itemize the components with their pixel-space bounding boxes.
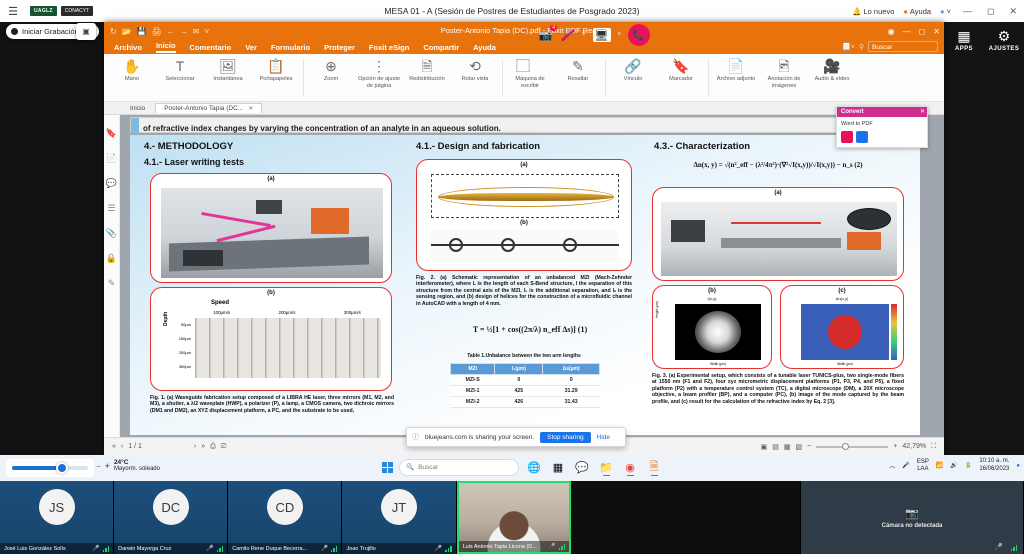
- participant-name: Darwin Mayorga Cruz: [118, 546, 206, 552]
- zoom-slider[interactable]: [816, 446, 888, 448]
- volume-slider-knob[interactable]: [56, 462, 68, 474]
- language-indicator[interactable]: ESP LAA: [917, 459, 929, 472]
- participant-tile-active-speaker[interactable]: Luis Antonio Tapia Licona (D... 🎤: [457, 481, 572, 554]
- notification-icon[interactable]: ●: [1016, 463, 1020, 469]
- attachment-icon: 📄: [712, 57, 760, 76]
- ribbon-snapshot[interactable]: 🖼 Instantánea: [204, 57, 252, 83]
- ribbon-label-audio-video: Audio & vídeo: [808, 76, 856, 83]
- figure-3a-image: [661, 202, 897, 276]
- participant-status-icons: 🎤: [206, 545, 223, 552]
- facing-page-icon[interactable]: ⎚: [221, 443, 227, 451]
- mic-muted-icon: 🎤: [206, 545, 213, 552]
- depth-row-3: 250µm: [171, 346, 191, 360]
- weather-plus-icon[interactable]: +: [105, 461, 110, 471]
- ribbon-label-select: Seleccionar: [156, 76, 204, 83]
- equation-2: Δn(x, y) = √(n²_eff − (λ²/4π²)·(∇²√I(x,y…: [650, 161, 906, 169]
- prev-page-icon[interactable]: ‹: [121, 443, 123, 450]
- ribbon-label-clipboard: Portapapeles: [252, 76, 300, 83]
- figure-3c-box: (c) Δn(x,y) Width (µm): [780, 285, 904, 369]
- table-header-row: MZI l₂(µm) Δs(µm): [451, 364, 600, 375]
- figure-1b-label: (b): [151, 290, 391, 296]
- panel-b-ylabel: Height (µm): [655, 301, 659, 318]
- signal-strength-icon: [559, 544, 566, 550]
- foxit-side-panel-strip: 🔖 📄 💬 ☰ 📎 🔒 ✎: [104, 115, 120, 455]
- figure-3a-label: (a): [653, 190, 903, 196]
- page-indicator[interactable]: 1 / 1: [128, 443, 142, 450]
- no-camera-label: Cámara no detectada: [882, 523, 943, 529]
- bluejeans-topbar: ☰ UAGLZ CONACYT MESA 01 - A (Sesión de P…: [0, 0, 1024, 22]
- figure-2b-label: (b): [417, 220, 631, 226]
- screen-root: ☰ UAGLZ CONACYT MESA 01 - A (Sesión de P…: [0, 0, 1024, 554]
- single-view-icon[interactable]: ▣: [761, 443, 768, 451]
- microphone-icon[interactable]: 🎤: [902, 462, 909, 469]
- ribbon-image-annotation[interactable]: 🖻 Anotación de imágenes: [760, 57, 808, 90]
- security-icon[interactable]: 🔒: [104, 246, 119, 271]
- participant-tile-no-camera[interactable]: 📷 Cámara no detectada 🎤: [801, 481, 1024, 554]
- camera-off-icon: 📷: [905, 507, 919, 520]
- participant-tile[interactable]: DC Darwin Mayorga Cruz 🎤: [114, 481, 228, 554]
- select-icon: T: [156, 57, 204, 76]
- figure-1b-box: (b) Speed 100µm/s 200µm/s 300µm/s Depth …: [150, 287, 392, 391]
- page-navigation: « ‹ 1 / 1 › » ⎙ ⎚: [104, 443, 226, 451]
- left-subheading: 4.1.- Laser writing tests: [144, 157, 394, 167]
- avatar: JT: [381, 489, 417, 525]
- participant-info-bar: Darwin Mayorga Cruz 🎤: [114, 543, 227, 554]
- figure-1a-image: [161, 188, 383, 278]
- mic-muted-icon: 🎤: [435, 545, 442, 552]
- attachment-icon[interactable]: 📎: [104, 221, 119, 246]
- figure-3c-label: (c): [781, 288, 903, 294]
- help-label: Ayuda: [910, 7, 931, 16]
- convert-popup-title: Convert: [837, 107, 927, 117]
- help-icon: ●: [903, 7, 908, 16]
- edge-icon[interactable]: 🌐: [525, 458, 543, 476]
- participant-info-bar: Camilo Rene Duque Becerra... 🎤: [228, 543, 341, 554]
- whats-new-label: Lo nuevo: [864, 7, 895, 16]
- participant-tile[interactable]: JS José Luis González Solís 🎤: [0, 481, 114, 554]
- battery-icon[interactable]: 🔋: [965, 462, 972, 469]
- zoom-slider-knob[interactable]: [842, 443, 849, 450]
- middle-heading: 4.1.- Design and fabrication: [416, 141, 636, 152]
- highlight-icon: ✎: [554, 57, 602, 76]
- search-input-placeholder: Buscar: [418, 464, 438, 471]
- ribbon-label-rotate: Rotar vista: [451, 76, 499, 83]
- clock-date: 16/06/2023: [979, 466, 1009, 474]
- fit-page-icon: ⋮: [355, 57, 403, 76]
- foxit-close-button[interactable]: ✕: [933, 27, 940, 36]
- rail-label-settings: AJUSTES: [984, 46, 1024, 52]
- participant-name: José Luis González Solís: [4, 546, 92, 552]
- figure-2a-diagram: [431, 174, 619, 218]
- apps-icon: ▦: [944, 28, 984, 44]
- clock[interactable]: 10:10 a. m. 16/06/2023: [979, 458, 1009, 473]
- zoom-in-button[interactable]: +: [893, 443, 897, 450]
- menu-ayuda[interactable]: Ayuda: [473, 43, 496, 52]
- depth-row-4: 350µm: [171, 360, 191, 374]
- ribbon-label-zoom: Zoom: [307, 76, 355, 83]
- hand-icon: ✋: [108, 57, 156, 76]
- participant-status-icons: 🎤: [320, 545, 337, 552]
- volume-osd[interactable]: [6, 459, 94, 477]
- ribbon-clipboard[interactable]: 📋 Portapapeles: [252, 57, 300, 83]
- foxit-titlebar: ↻ 📂 💾 🖨 ← → ✉ ˅ Poster-Antonio Tapia (DC…: [104, 22, 944, 40]
- help-button[interactable]: ● Ayuda: [903, 7, 931, 16]
- camera-button[interactable]: 📷 4: [538, 28, 553, 43]
- bookmark-icon[interactable]: 🔖: [104, 121, 119, 146]
- file-explorer-icon[interactable]: 📁: [597, 458, 615, 476]
- speed-col-3: 300µm/s: [344, 310, 361, 315]
- figure-3b-box: (b) I(x,y) Height (µm) Width (µm): [652, 285, 772, 369]
- teams-chat-icon[interactable]: 💬: [573, 458, 591, 476]
- ribbon-label-fit-page: Opción de ajuste de página: [355, 76, 403, 90]
- convert-popup[interactable]: Convert ✕ Word to PDF: [836, 106, 928, 148]
- participant-tile[interactable]: CD Camilo Rene Duque Becerra... 🎤: [228, 481, 342, 554]
- last-page-icon[interactable]: »: [201, 443, 205, 450]
- avatar: CD: [267, 489, 303, 525]
- tab-label: Poster-Antonio Tapia (DC...: [164, 105, 243, 112]
- share-info-icon: ⓘ: [412, 432, 419, 442]
- ribbon-select[interactable]: T Seleccionar: [156, 57, 204, 83]
- chrome-icon[interactable]: ◉: [621, 458, 639, 476]
- volume-slider[interactable]: [12, 466, 88, 470]
- depth-row-1: 50µm: [171, 318, 191, 332]
- whats-new-button[interactable]: 🔔 Lo nuevo: [852, 7, 894, 16]
- menu-comentario[interactable]: Comentario: [190, 43, 232, 52]
- tab-inicio[interactable]: Inicio: [122, 104, 153, 113]
- facing-continuous-icon[interactable]: ▧: [796, 443, 803, 451]
- figure-2-box: (a) (b): [416, 159, 632, 271]
- participant-tile[interactable]: JT Joao Trujillo 🎤: [342, 481, 456, 554]
- panel-b-title: I(x,y): [653, 296, 771, 301]
- participant-name: Joao Trujillo: [346, 546, 434, 552]
- account-icon: ●: [940, 7, 945, 16]
- fullscreen-icon[interactable]: ⛶: [931, 443, 936, 451]
- ribbon-separator-3: [605, 59, 606, 97]
- share-notification-text: bluejeans.com is sharing your screen.: [425, 434, 534, 441]
- snapshot-icon: 🖼: [204, 57, 252, 76]
- single-page-icon[interactable]: ⎙: [210, 443, 216, 451]
- search-icon: 🔍: [406, 463, 414, 471]
- windows-taskbar: − + 24°C Mayorm. soleado 🔍 Buscar 🌐 ▦ 💬 …: [0, 455, 1024, 481]
- foxit-document-tabs: Inicio Poster-Antonio Tapia (DC... ✕: [104, 102, 944, 115]
- th-ds: Δs(µm): [543, 364, 600, 375]
- facing-view-icon[interactable]: ▦: [784, 443, 791, 451]
- continuous-view-icon[interactable]: ▤: [772, 443, 779, 451]
- stop-sharing-button[interactable]: Stop sharing: [540, 432, 591, 443]
- task-view-icon[interactable]: ▦: [549, 458, 567, 476]
- signal-strength-icon: [1011, 545, 1018, 551]
- mic-icon: 🎤: [548, 543, 555, 550]
- ribbon-attachment[interactable]: 📄 Archivo adjunto: [712, 57, 760, 83]
- depth-label: Depth: [163, 312, 169, 326]
- ribbon-hand[interactable]: ✋ Mano: [108, 57, 156, 83]
- record-dot-icon: [11, 28, 18, 35]
- menu-ver[interactable]: Ver: [245, 43, 257, 52]
- ribbon-label-image-annotation: Anotación de imágenes: [760, 76, 808, 90]
- foxit-search[interactable]: 📃˅ ⚲ Buscar: [842, 41, 938, 52]
- poster-banner-text: of refractive index changes by varying t…: [131, 124, 501, 133]
- signal-strength-icon: [217, 546, 224, 552]
- rail-label-apps: APPS: [944, 46, 984, 52]
- table-row: MZI-2 426 31.43: [451, 397, 600, 408]
- zoom-icon: ⊕: [307, 57, 355, 76]
- ribbon-typewriter[interactable]: ⃞ Máquina de escribir: [506, 57, 554, 90]
- cell-ds: 31.43: [543, 397, 600, 408]
- figure-3a-box: (a): [652, 187, 904, 281]
- account-button[interactable]: ● ˅: [940, 7, 951, 16]
- speed-title: Speed: [211, 300, 229, 306]
- comment-icon[interactable]: 💬: [104, 171, 119, 196]
- mic-muted-icon: 🎤: [320, 545, 327, 552]
- ribbon-label-typewriter: Máquina de escribir: [506, 76, 554, 90]
- cell-mzi: MZI-1: [451, 386, 495, 397]
- tab-poster-document[interactable]: Poster-Antonio Tapia (DC... ✕: [155, 103, 262, 113]
- ribbon-rotate-view[interactable]: ⟲ Rotar vista: [451, 57, 499, 83]
- cell-l2: 425: [495, 386, 543, 397]
- refractive-index-map: [801, 304, 889, 360]
- foxit-restore-button[interactable]: ◻: [919, 27, 926, 36]
- bluejeans-topbar-right: 🔔 Lo nuevo ● Ayuda ● ˅ — ◻ ✕: [852, 0, 1020, 22]
- poster-top-banner: of refractive index changes by varying t…: [130, 117, 920, 133]
- table-row: MZI-S 0 0: [451, 375, 600, 386]
- share-screen-button[interactable]: 🖥: [593, 28, 611, 42]
- signal-strength-icon: [103, 546, 110, 552]
- panel-b-xlabel: Width (µm): [675, 362, 761, 366]
- cell-l2: 426: [495, 397, 543, 408]
- image-annotation-icon: 🖻: [760, 57, 808, 76]
- search-icon: ⚲: [859, 43, 864, 51]
- clock-time: 10:10 a. m.: [979, 458, 1009, 466]
- mic-mute-strike-icon: [561, 29, 575, 40]
- participant-info-bar: José Luis González Solís 🎤: [0, 543, 113, 554]
- first-page-icon[interactable]: «: [112, 443, 116, 450]
- weather-widget[interactable]: − + 24°C Mayorm. soleado: [96, 459, 160, 473]
- foxit-ribbon: ✋ Mano T Seleccionar 🖼 Instantánea 📋 Por…: [104, 54, 944, 102]
- convert-popup-icons: [837, 131, 927, 147]
- next-page-icon[interactable]: ›: [194, 443, 196, 450]
- left-heading: 4.- METHODOLOGY: [144, 141, 394, 152]
- participant-name: Luis Antonio Tapia Licona (D...: [463, 544, 549, 550]
- rail-item-apps[interactable]: ▦ APPS: [944, 28, 984, 52]
- audio-video-icon: 🎥: [808, 57, 856, 76]
- convert-pdf-icon[interactable]: [856, 131, 868, 143]
- foxit-window: ↻ 📂 💾 🖨 ← → ✉ ˅ Poster-Antonio Tapia (DC…: [104, 22, 944, 455]
- ribbon-audio-video[interactable]: 🎥 Audio & vídeo: [808, 57, 856, 83]
- menu-formulario[interactable]: Formulario: [271, 43, 310, 52]
- ribbon-label-reflow: Redistribución: [403, 76, 451, 83]
- depth-row-2: 150µm: [171, 332, 191, 346]
- menu-inicio[interactable]: Inicio: [156, 41, 176, 53]
- participant-status-icons: 🎤: [92, 545, 109, 552]
- start-recording-label: Iniciar Grabación: [22, 27, 79, 36]
- avatar: JS: [39, 489, 75, 525]
- zoom-controls: ▣ ▤ ▦ ▧ − + 42,79% ⛶: [761, 443, 936, 451]
- menu-compartir[interactable]: Compartir: [423, 43, 459, 52]
- figure-1-caption: Fig. 1. (a) Waveguide fabrication setup …: [150, 395, 394, 414]
- th-l2: l₂(µm): [495, 364, 543, 375]
- taskbar-search[interactable]: 🔍 Buscar: [399, 459, 519, 476]
- mic-muted-button[interactable]: 🎤: [560, 28, 575, 43]
- ribbon-label-highlight: Resaltar: [554, 76, 602, 83]
- equation-1: T = ½[1 + cos((2π/λ) n_eff Δs)] (1): [430, 325, 630, 334]
- cell-mzi: MZI-S: [451, 375, 495, 386]
- ribbon-label-hand: Mano: [108, 76, 156, 83]
- bookmark-icon: 🔖: [657, 57, 705, 76]
- cell-l2: 0: [495, 375, 543, 386]
- ribbon-label-snapshot: Instantánea: [204, 76, 252, 83]
- participant-name: Camilo Rene Duque Becerra...: [232, 546, 320, 552]
- ribbon-label-bookmark: Marcador: [657, 76, 705, 83]
- settings-icon: ⚙: [984, 28, 1024, 44]
- link-icon: 🔗: [609, 57, 657, 76]
- cell-mzi: MZI-2: [451, 397, 495, 408]
- pdf-page-view[interactable]: of refractive index changes by varying t…: [120, 115, 944, 437]
- ribbon-separator-2: [502, 59, 503, 97]
- ribbon-zoom[interactable]: ⊕ Zoom: [307, 57, 355, 83]
- volume-fill: [12, 466, 58, 470]
- foxit-menubar: Archivo Inicio Comentario Ver Formulario…: [104, 40, 944, 54]
- language-line-2: LAA: [917, 466, 929, 473]
- ribbon-fit-page[interactable]: ⋮ Opción de ajuste de página: [355, 57, 403, 90]
- typewriter-icon: ⃞: [506, 57, 554, 76]
- cell-ds: 31.29: [543, 386, 600, 397]
- banner-accent: [131, 118, 139, 134]
- close-icon[interactable]: ✕: [248, 105, 253, 112]
- system-tray: ︿ 🎤 ESP LAA 📶 🔊 🔋 10:10 a. m. 16/06/2023…: [889, 458, 1020, 473]
- figure-1a-box: (a): [150, 173, 392, 283]
- th-mzi: MZI: [451, 364, 495, 375]
- cell-ds: 0: [543, 375, 600, 386]
- participant-status-icons: 🎤: [435, 545, 452, 552]
- table-1: MZI l₂(µm) Δs(µm) MZI-S 0 0 MZI-1: [450, 363, 600, 408]
- screen-share-notification: ⓘ bluejeans.com is sharing your screen. …: [406, 427, 626, 447]
- foxit-account-icon[interactable]: ◉: [888, 27, 895, 36]
- whats-new-icon: 🔔: [852, 7, 861, 16]
- ribbon-label-attachment: Archivo adjunto: [712, 76, 760, 83]
- figure-2b-diagram: [431, 230, 619, 262]
- layers-icon[interactable]: ☰: [104, 196, 119, 221]
- tray-chevron-icon[interactable]: ︿: [889, 461, 895, 470]
- hide-notification-button[interactable]: Hide: [597, 434, 610, 441]
- panel-c-xlabel: Width (µm): [801, 362, 889, 366]
- participant-info-bar: Joao Trujillo 🎤: [342, 543, 455, 554]
- foxit-window-controls: ◉ — ◻ ✕: [888, 22, 940, 40]
- mic-muted-icon: 🎤: [994, 543, 1003, 551]
- zoom-out-button[interactable]: −: [807, 443, 811, 450]
- clipboard-icon: 📋: [252, 57, 300, 76]
- table-row: MZI-1 425 31.29: [451, 386, 600, 397]
- figure-3b-label: (b): [653, 288, 771, 294]
- ribbon-separator-4: [708, 59, 709, 97]
- ribbon-label-link: Vínculo: [609, 76, 657, 83]
- ribbon-bookmark[interactable]: 🔖 Marcador: [657, 57, 705, 83]
- panel-c-title: Δn(x,y): [781, 296, 903, 301]
- weather-desc: Mayorm. soleado: [114, 466, 160, 473]
- signature-icon[interactable]: ✎: [104, 271, 119, 296]
- search-scope-icon[interactable]: 📃˅: [842, 43, 855, 51]
- ribbon-separator: [303, 59, 304, 97]
- layout-toggle-button[interactable]: ▣: [76, 23, 96, 40]
- pages-icon[interactable]: 📄: [104, 146, 119, 171]
- foxit-minimize-button[interactable]: —: [903, 27, 911, 36]
- participant-status-icons: 🎤: [548, 543, 565, 550]
- minimize-button[interactable]: —: [960, 6, 975, 16]
- volume-icon[interactable]: 🔊: [950, 462, 957, 469]
- speed-col-2: 200µm/s: [279, 310, 296, 315]
- close-icon[interactable]: ✕: [920, 108, 925, 115]
- menu-foxit-esign[interactable]: Foxit eSign: [369, 43, 409, 52]
- signal-strength-icon: [445, 546, 452, 552]
- participant-tile-empty[interactable]: [571, 481, 801, 554]
- convert-popup-subtitle: Word to PDF: [837, 117, 927, 131]
- zoom-level[interactable]: 42,79%: [902, 443, 926, 450]
- search-input[interactable]: Buscar: [868, 41, 938, 52]
- menu-proteger[interactable]: Proteger: [324, 43, 355, 52]
- figure-3-caption: Fig. 3. (a) Experimental setup, which co…: [652, 373, 904, 405]
- reflow-icon: 🗎: [403, 57, 451, 76]
- speed-col-1: 100µm/s: [213, 310, 230, 315]
- signal-strength-icon: [331, 546, 338, 552]
- rotate-view-icon: ⟲: [451, 57, 499, 76]
- ribbon-highlight[interactable]: ✎ Resaltar: [554, 57, 602, 83]
- foxit-reader-icon[interactable]: 🗎: [645, 458, 663, 476]
- rail-item-settings[interactable]: ⚙ AJUSTES: [984, 28, 1024, 52]
- windows-start-icon[interactable]: [382, 462, 393, 473]
- table-1-caption: Table 1.Unbalance between the two arm le…: [416, 353, 632, 359]
- beam-profile-image: [675, 304, 761, 360]
- meeting-controls: 📷 4 🎤 ˅ 🖥 ˅ 📞: [538, 24, 650, 46]
- foxit-window-title: Poster-Antonio Tapia (DC).pdf - Foxit PD…: [104, 22, 944, 40]
- participant-info-bar: Luis Antonio Tapia Licona (D... 🎤: [459, 541, 570, 552]
- close-button[interactable]: ✕: [1006, 6, 1020, 17]
- ribbon-reflow[interactable]: 🗎 Redistribución: [403, 57, 451, 83]
- ribbon-link[interactable]: 🔗 Vínculo: [609, 57, 657, 83]
- figure-2a-label: (a): [417, 162, 631, 168]
- avatar: DC: [153, 489, 189, 525]
- participant-filmstrip: JS José Luis González Solís 🎤 DC Darwin …: [0, 481, 1024, 554]
- poster-body: 4.- METHODOLOGY 4.1.- Laser writing test…: [130, 135, 920, 435]
- waveguide-array-image: [195, 318, 381, 378]
- hangup-button[interactable]: 📞: [628, 24, 650, 46]
- wifi-icon[interactable]: 📶: [936, 462, 943, 469]
- convert-word-icon[interactable]: [841, 131, 853, 143]
- camera-badge: 4: [550, 25, 557, 31]
- mic-muted-icon: 🎤: [92, 545, 99, 552]
- figure-1a-label: (a): [151, 176, 391, 182]
- taskbar-center: 🔍 Buscar 🌐 ▦ 💬 📁 ◉ 🗎: [382, 458, 663, 476]
- weather-minus-icon[interactable]: −: [96, 462, 101, 471]
- weather-temp: 24°C: [114, 459, 160, 466]
- menu-archivo[interactable]: Archivo: [114, 43, 142, 52]
- maximize-button[interactable]: ◻: [984, 6, 997, 17]
- figure-2-caption: Fig. 2. (a) Schematic representation of …: [416, 275, 632, 307]
